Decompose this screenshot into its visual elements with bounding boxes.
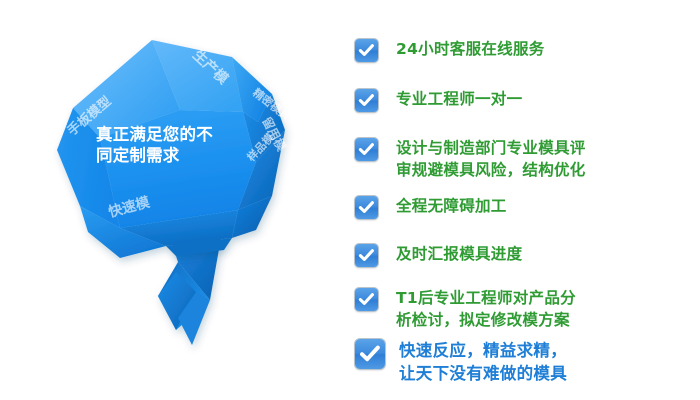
list-item[interactable]: T1后专业工程师对产品分 析检讨，拟定修改模方案	[355, 287, 576, 331]
graphic-headline: 真正满足您的不 同定制需求	[96, 124, 266, 166]
list-item-label: 设计与制造部门专业模具评 审规避模具风险，结构优化	[396, 137, 586, 181]
feature-checklist: 24小时客服在线服务 专业工程师一对一 设计与制造部门专业模具评 审规避模具风险…	[355, 26, 700, 396]
list-item-label: 专业工程师一对一	[396, 88, 522, 110]
check-icon	[355, 196, 378, 219]
list-item[interactable]: 设计与制造部门专业模具评 审规避模具风险，结构优化	[355, 137, 586, 181]
promo-banner: 手板模型 生产模 精密模具 留用模 样品模 快速模 真正满足您的不 同定制需求 …	[0, 0, 700, 400]
polyhedron-illustration: 手板模型 生产模 精密模具 留用模 样品模 快速模 真正满足您的不 同定制需求	[0, 0, 350, 400]
check-icon	[355, 89, 378, 112]
check-icon	[355, 39, 378, 62]
list-item-label: T1后专业工程师对产品分 析检讨，拟定修改模方案	[396, 287, 576, 331]
list-item[interactable]: 快速反应，精益求精， 让天下没有难做的模具	[355, 339, 567, 385]
list-item[interactable]: 专业工程师一对一	[355, 88, 522, 112]
list-item-label: 快速反应，精益求精， 让天下没有难做的模具	[399, 339, 567, 385]
list-item[interactable]: 24小时客服在线服务	[355, 38, 545, 62]
list-item[interactable]: 全程无障碍加工	[355, 195, 507, 219]
check-icon	[355, 339, 385, 369]
check-icon	[355, 288, 378, 311]
list-item[interactable]: 及时汇报模具进度	[355, 243, 522, 267]
check-icon	[355, 244, 378, 267]
check-icon	[355, 138, 378, 161]
list-item-label: 及时汇报模具进度	[396, 243, 522, 265]
list-item-label: 全程无障碍加工	[396, 195, 507, 217]
list-item-label: 24小时客服在线服务	[396, 38, 545, 60]
